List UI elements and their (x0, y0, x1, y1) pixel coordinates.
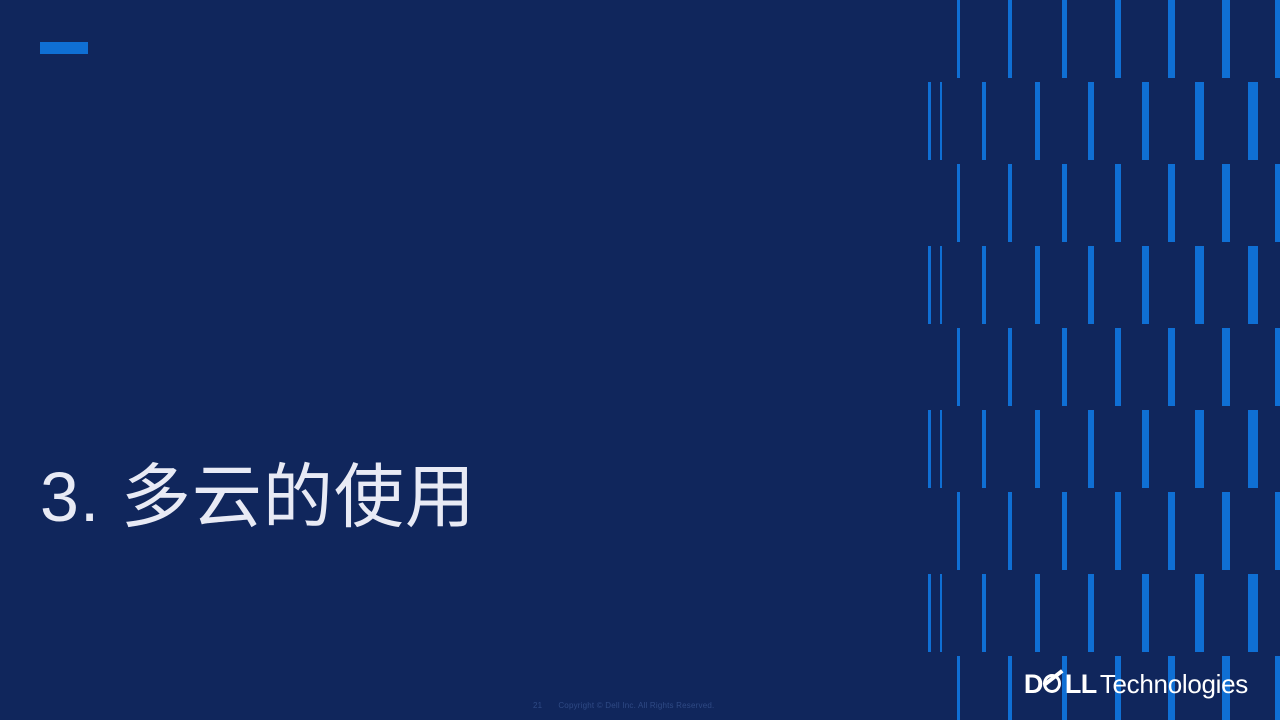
pattern-bar (1115, 328, 1121, 406)
pattern-bar (1275, 328, 1280, 406)
copyright-notice: Copyright © Dell Inc. All Rights Reserve… (558, 701, 714, 711)
pattern-bar (1142, 246, 1149, 324)
page-title: 3. 多云的使用 (40, 452, 476, 542)
pattern-bar (928, 410, 931, 488)
pattern-bar (1222, 0, 1230, 78)
pattern-bar (1168, 492, 1175, 570)
pattern-bar (1035, 246, 1040, 324)
dell-letter-d: D (1024, 669, 1043, 700)
pattern-bar (1035, 410, 1040, 488)
pattern-bar (1142, 82, 1149, 160)
pattern-bar (982, 574, 986, 652)
pattern-bar (1088, 246, 1094, 324)
pattern-bar (1088, 82, 1094, 160)
pattern-bar (1195, 574, 1204, 652)
pattern-bar (1035, 574, 1040, 652)
pattern-bar (940, 410, 942, 488)
dell-slashed-e-icon (1043, 672, 1065, 696)
pattern-bar (982, 82, 986, 160)
pattern-bar (1115, 164, 1121, 242)
slide-footer: 21 Copyright © Dell Inc. All Rights Rese… (533, 701, 714, 711)
pattern-bar (1222, 164, 1230, 242)
pattern-bar (928, 574, 931, 652)
pattern-bar (1142, 410, 1149, 488)
pattern-bar (1062, 164, 1067, 242)
pattern-bar (1222, 492, 1230, 570)
pattern-bar (1275, 656, 1280, 720)
pattern-bar (982, 246, 986, 324)
pattern-bar (1115, 492, 1121, 570)
pattern-bar (1035, 82, 1040, 160)
pattern-bar (1142, 574, 1149, 652)
pattern-bar (1222, 328, 1230, 406)
page-number: 21 (533, 701, 542, 711)
pattern-bar (1275, 164, 1280, 242)
pattern-bar (1115, 0, 1121, 78)
pattern-bar (957, 0, 960, 78)
pattern-bar (1008, 656, 1012, 720)
pattern-bar (940, 246, 942, 324)
pattern-bar (1195, 246, 1204, 324)
pattern-bar (982, 410, 986, 488)
pattern-bar (1088, 574, 1094, 652)
dell-technologies-logo: D LL Technologies (1024, 669, 1248, 699)
pattern-bar (940, 82, 942, 160)
decorative-bar-pattern (920, 0, 1280, 720)
pattern-bar (1062, 328, 1067, 406)
pattern-bar (928, 246, 931, 324)
pattern-bar (1248, 410, 1258, 488)
pattern-bar (957, 328, 960, 406)
pattern-bar (1062, 0, 1067, 78)
pattern-bar (1248, 82, 1258, 160)
pattern-bar (1248, 574, 1258, 652)
accent-bar (40, 42, 88, 54)
pattern-bar (1008, 164, 1012, 242)
dell-wordmark: D LL (1024, 669, 1097, 700)
pattern-bar (1008, 0, 1012, 78)
pattern-bar (1195, 410, 1204, 488)
pattern-bar (928, 82, 931, 160)
pattern-bar (1248, 246, 1258, 324)
pattern-bar (957, 656, 960, 720)
pattern-bar (957, 492, 960, 570)
pattern-bar (1008, 492, 1012, 570)
presentation-slide: 3. 多云的使用 21 Copyright © Dell Inc. All Ri… (0, 0, 1280, 720)
pattern-bar (1275, 0, 1280, 78)
pattern-bar (1168, 164, 1175, 242)
technologies-wordmark: Technologies (1100, 669, 1248, 700)
pattern-bar (1275, 492, 1280, 570)
pattern-bar (940, 574, 942, 652)
pattern-bar (1168, 328, 1175, 406)
pattern-bar (957, 164, 960, 242)
pattern-bar (1008, 328, 1012, 406)
pattern-bar (1168, 0, 1175, 78)
pattern-bar (1088, 410, 1094, 488)
pattern-bar (1195, 82, 1204, 160)
pattern-bar (1062, 492, 1067, 570)
dell-letters-ll: LL (1065, 669, 1097, 700)
